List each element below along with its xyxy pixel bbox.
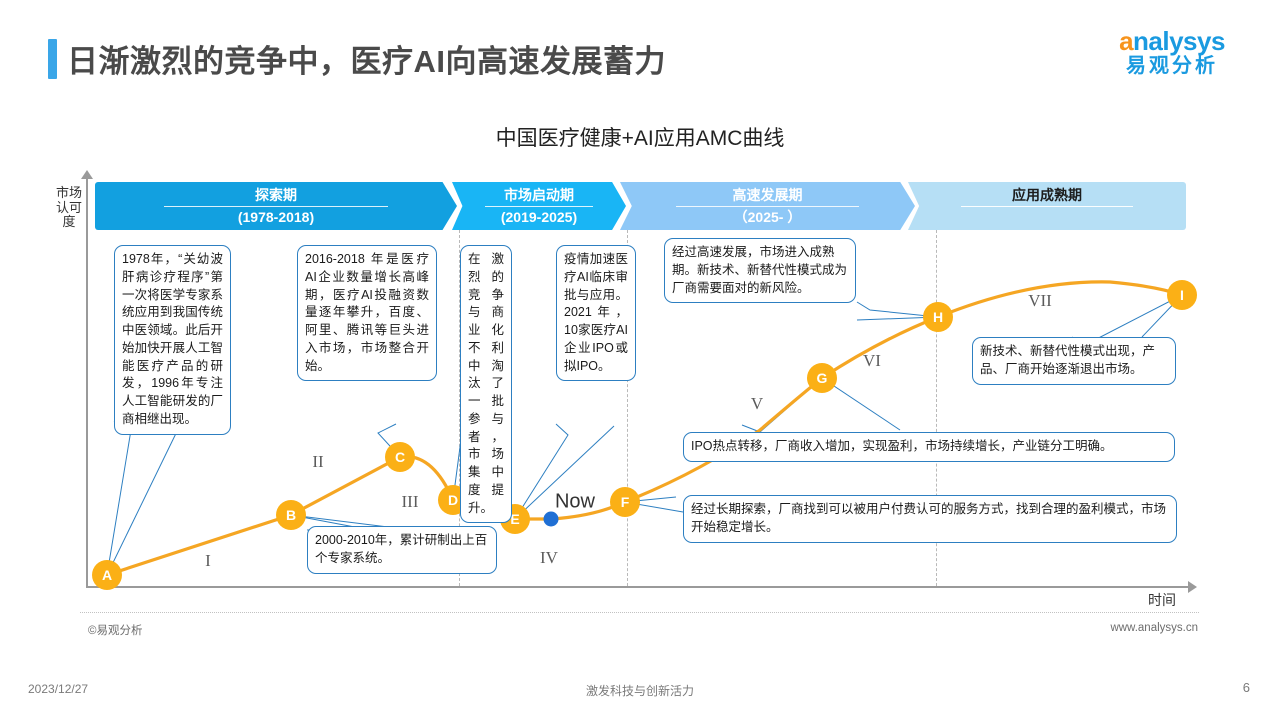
curve-marker-i[interactable]: I: [1167, 280, 1197, 310]
segment-numeral-vi: VI: [863, 351, 881, 371]
segment-numeral-v: V: [751, 394, 763, 414]
leader-line-a: [107, 421, 131, 575]
segment-numeral-iii: III: [402, 492, 419, 512]
phase-band-maturity: 应用成熟期: [908, 182, 1186, 230]
phase-band-rapid-growth: 高速发展期 （2025- ）: [620, 182, 915, 230]
y-axis-line: [86, 176, 88, 588]
phase-band-rule: [485, 206, 593, 207]
x-axis-label: 时间: [1148, 590, 1176, 610]
title-accent-bar: [48, 39, 57, 79]
phase-band-rule: [164, 206, 388, 207]
phase-band-market-launch: 市场启动期 (2019-2025): [452, 182, 626, 230]
callout-box-c: 在激烈的竞争与商业化不利中淘汰了一批参与者，市场集中度提升。: [460, 245, 512, 523]
curve-marker-h[interactable]: H: [923, 302, 953, 332]
logo-chinese-name: 易观分析: [1088, 56, 1256, 76]
callout-box-f: 新技术、新替代性模式出现，产品、厂商开始逐渐退出市场。: [972, 337, 1176, 385]
phase-band-range: (2019-2025): [452, 208, 626, 227]
phase-band-name: 探索期: [95, 186, 457, 205]
slide-tagline: 激发科技与创新活力: [0, 682, 1280, 699]
curve-marker-f[interactable]: F: [610, 487, 640, 517]
logo-wordmark: analysys: [1088, 28, 1256, 54]
callout-box-h: 经过长期探索，厂商找到可以被用户付费认可的服务方式，找到合理的盈利模式，市场开始…: [683, 495, 1177, 543]
page-title: 日渐激烈的竞争中，医疗AI向高速发展蓄力: [48, 36, 666, 81]
now-label: Now: [555, 491, 595, 514]
curve-marker-c[interactable]: C: [385, 442, 415, 472]
website-text: www.analysys.cn: [1110, 622, 1198, 634]
curve-marker-g[interactable]: G: [807, 363, 837, 393]
callout-box-g: IPO热点转移，厂商收入增加，实现盈利，市场持续增长，产业链分工明确。: [683, 432, 1175, 462]
phase-band-range: （2025- ）: [620, 208, 915, 227]
curve-marker-a[interactable]: A: [92, 560, 122, 590]
slide: 日渐激烈的竞争中，医疗AI向高速发展蓄力 analysys 易观分析 中国医疗健…: [0, 0, 1280, 720]
phase-band-rule: [676, 206, 859, 207]
analysys-logo: analysys 易观分析: [1088, 28, 1256, 76]
phase-band-name: 应用成熟期: [908, 186, 1186, 205]
segment-numeral-ii: II: [312, 452, 323, 472]
segment-numeral-i: I: [205, 551, 211, 571]
phase-band-name: 市场启动期: [452, 186, 626, 205]
segment-numeral-vii: VII: [1028, 291, 1052, 311]
phase-band-range: (1978-2018): [95, 208, 457, 227]
callout-box-a: 1978年，“关幼波肝病诊疗程序”第一次将医学专家系统应用到我国传统中医领域。此…: [114, 245, 231, 435]
x-axis-arrow-icon: [1188, 581, 1197, 593]
callout-box-b: 2016-2018 年是医疗AI企业数量增长高峰期，医疗AI投融资数量逐年攀升，…: [297, 245, 437, 381]
chart-title: 中国医疗健康+AI应用AMC曲线: [0, 122, 1280, 152]
leader-line-a2: [107, 419, 183, 575]
callout-box-e: 经过高速发展，市场进入成熟期。新技术、新替代性模式成为厂商需要面对的新风险。: [664, 238, 856, 303]
phase-band-rule: [961, 206, 1133, 207]
now-dot-marker[interactable]: [544, 512, 559, 527]
footer-divider: [80, 612, 1199, 613]
logo-word-rest: nalysys: [1133, 26, 1225, 56]
callout-box-i: 2000-2010年，累计研制出上百个专家系统。: [307, 526, 497, 574]
phase-band-exploration: 探索期 (1978-2018): [95, 182, 457, 230]
phase-band-name: 高速发展期: [620, 186, 915, 205]
curve-marker-b[interactable]: B: [276, 500, 306, 530]
logo-a-glyph: a: [1119, 26, 1133, 56]
slide-number: 6: [1243, 680, 1250, 695]
copyright-text: ©易观分析: [88, 622, 142, 638]
x-axis-line: [86, 586, 1190, 588]
y-axis-label: 市场认可度: [56, 186, 82, 230]
callout-box-d: 疫情加速医疗AI临床审批与应用。2021年，10家医疗AI企业IPO或拟IPO。: [556, 245, 636, 381]
segment-numeral-iv: IV: [540, 548, 558, 568]
page-title-text: 日渐激烈的竞争中，医疗AI向高速发展蓄力: [67, 36, 666, 81]
